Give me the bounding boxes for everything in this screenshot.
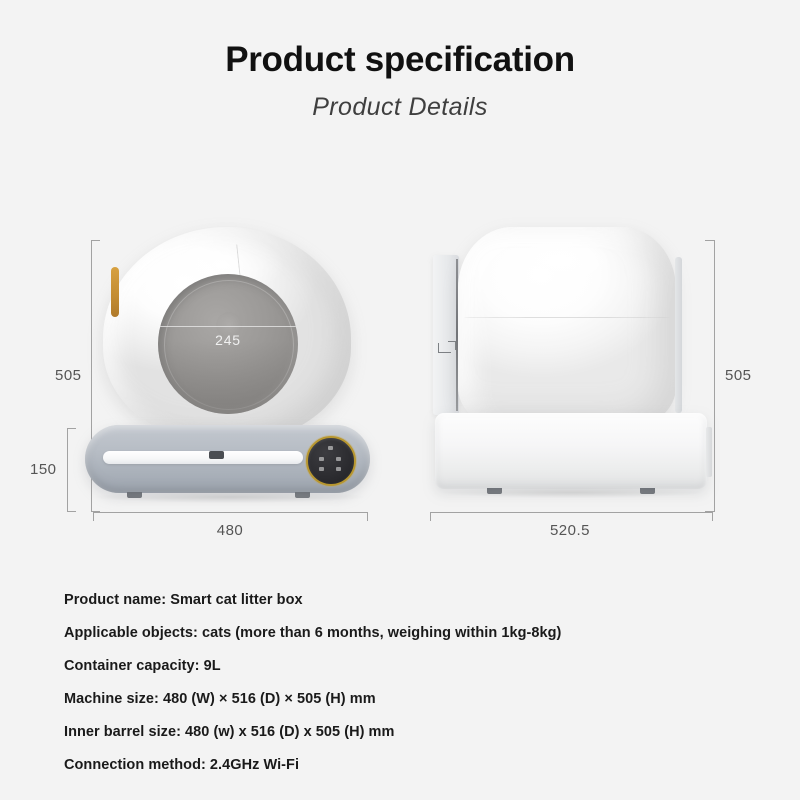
base-handle-notch — [209, 451, 224, 459]
front-base-drawer — [85, 425, 370, 493]
panel-indicator-icon — [319, 467, 324, 471]
base-light-strip — [103, 451, 303, 464]
bracket-tick-top — [67, 428, 76, 429]
side-base-edge — [706, 427, 712, 477]
side-view: 505 520.5 — [425, 215, 720, 545]
product-diagram: 505 150 245 — [0, 215, 800, 565]
side-height-label: 505 — [725, 367, 752, 384]
spec-line-product-name: Product name: Smart cat litter box — [64, 592, 724, 608]
front-opening: 245 — [158, 274, 298, 414]
side-panel-marking — [448, 341, 456, 350]
body-highlight — [504, 235, 614, 287]
opening-dimension-line — [160, 326, 296, 327]
bracket-stem — [67, 428, 68, 512]
bracket-stem — [714, 240, 715, 512]
spec-line-connection-method: Connection method: 2.4GHz Wi-Fi — [64, 757, 724, 773]
front-view: 505 150 245 — [85, 215, 385, 545]
body-seam — [464, 317, 670, 318]
page-header: Product specification Product Details — [0, 0, 800, 122]
specification-list: Product name: Smart cat litter box Appli… — [64, 592, 724, 773]
bracket-stem — [430, 512, 713, 513]
orange-accent-strip — [111, 267, 119, 317]
spec-line-container-capacity: Container capacity: 9L — [64, 658, 724, 674]
front-width-label: 480 — [85, 522, 375, 539]
panel-indicator-icon — [336, 467, 341, 471]
side-base-drawer — [435, 413, 707, 489]
side-width-label: 520.5 — [425, 522, 715, 539]
spec-line-inner-barrel-size: Inner barrel size: 480 (w) x 516 (D) x 5… — [64, 724, 724, 740]
bracket-tick-right — [367, 512, 368, 521]
bracket-tick-right — [712, 512, 713, 521]
side-body-shell — [458, 227, 676, 427]
page-subtitle: Product Details — [0, 79, 800, 122]
bracket-stem — [93, 512, 368, 513]
spec-line-applicable-objects: Applicable objects: cats (more than 6 mo… — [64, 625, 724, 641]
spec-line-machine-size: Machine size: 480 (W) × 516 (D) × 505 (H… — [64, 691, 724, 707]
front-body-shell: 245 — [103, 227, 351, 442]
control-panel[interactable] — [306, 436, 356, 486]
front-base-height-label: 150 — [30, 461, 57, 478]
opening-dimension-label: 245 — [158, 332, 298, 348]
bracket-tick-bottom — [67, 511, 76, 512]
panel-indicator-icon — [319, 457, 324, 461]
panel-indicator-icon — [336, 457, 341, 461]
bracket-tick-left — [93, 512, 94, 521]
front-height-label: 505 — [55, 367, 82, 384]
side-ground-shadow — [443, 487, 701, 498]
opening-shading — [158, 341, 298, 414]
bracket-tick-top — [91, 240, 100, 241]
page-title: Product specification — [0, 0, 800, 79]
panel-indicator-icon — [328, 446, 333, 450]
side-right-edge — [675, 257, 682, 413]
bracket-tick-top — [705, 240, 714, 241]
bracket-tick-left — [430, 512, 431, 521]
front-ground-shadow — [95, 491, 365, 503]
